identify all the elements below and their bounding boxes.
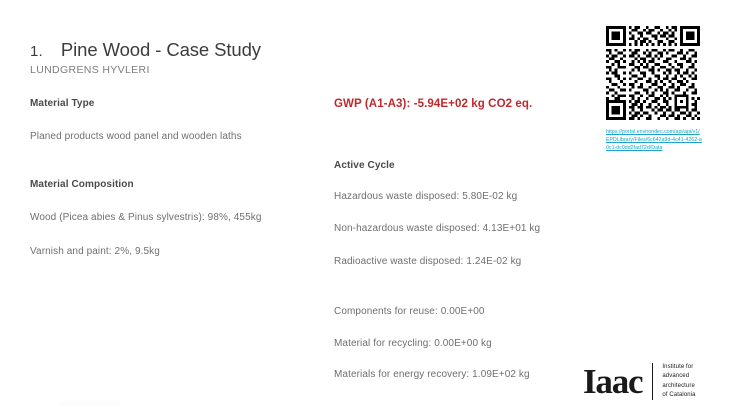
list-item: Hazardous waste disposed: 5.80E-02 kg — [334, 191, 596, 204]
tagline-line: Institute for — [662, 364, 693, 370]
qr-code-icon[interactable] — [606, 26, 700, 120]
title-block: 1. Pine Wood - Case Study LUNDGRENS HYVL… — [30, 40, 360, 76]
list-item: Varnish and paint: 2%, 9.5kg — [30, 246, 330, 259]
center-column: GWP (A1-A3): -5.94E+02 kg CO2 eq. Active… — [334, 98, 596, 382]
material-type-heading: Material Type — [30, 98, 330, 109]
active-cycle-heading: Active Cycle — [334, 160, 596, 171]
list-item: Material for recycling: 0.00E+00 kg — [334, 338, 596, 351]
tagline-line: architecture — [662, 383, 695, 389]
gwp-heading: GWP (A1-A3): -5.94E+02 kg CO2 eq. — [334, 98, 596, 112]
list-item: Non-hazardous waste disposed: 4.13E+01 k… — [334, 223, 596, 236]
title-row: 1. Pine Wood - Case Study — [30, 40, 360, 60]
material-composition-heading: Material Composition — [30, 179, 330, 190]
tagline-line: of Catalonia — [662, 392, 695, 398]
page-subtitle: LUNDGRENS HYVLERI — [30, 64, 360, 76]
material-type-value: Planed products wood panel and wooden la… — [30, 131, 330, 144]
bottom-artifact — [60, 401, 120, 406]
slide-canvas: 1. Pine Wood - Case Study LUNDGRENS HYVL… — [0, 0, 730, 411]
qr-block: https://portal.environdec.com/api/api/v1… — [606, 26, 704, 152]
list-item: Materials for energy recovery: 1.09E+02 … — [334, 369, 596, 382]
iaac-logo: Iaac Institute for advanced architecture… — [583, 363, 696, 400]
list-item: Wood (Picea abies & Pinus sylvestris): 9… — [30, 212, 330, 225]
page-title: Pine Wood - Case Study — [61, 40, 261, 60]
iaac-logo-wordmark: Iaac — [583, 364, 652, 399]
iaac-logo-tagline: Institute for advanced architecture of C… — [662, 363, 695, 400]
left-column: Material Type Planed products wood panel… — [30, 98, 330, 259]
logo-divider — [652, 363, 653, 400]
title-number: 1. — [30, 43, 43, 60]
epd-source-link[interactable]: https://portal.environdec.com/api/api/v1… — [606, 128, 702, 152]
list-item: Radioactive waste disposed: 1.24E-02 kg — [334, 256, 596, 269]
list-item: Components for reuse: 0.00E+00 — [334, 306, 596, 319]
tagline-line: advanced — [662, 373, 689, 379]
